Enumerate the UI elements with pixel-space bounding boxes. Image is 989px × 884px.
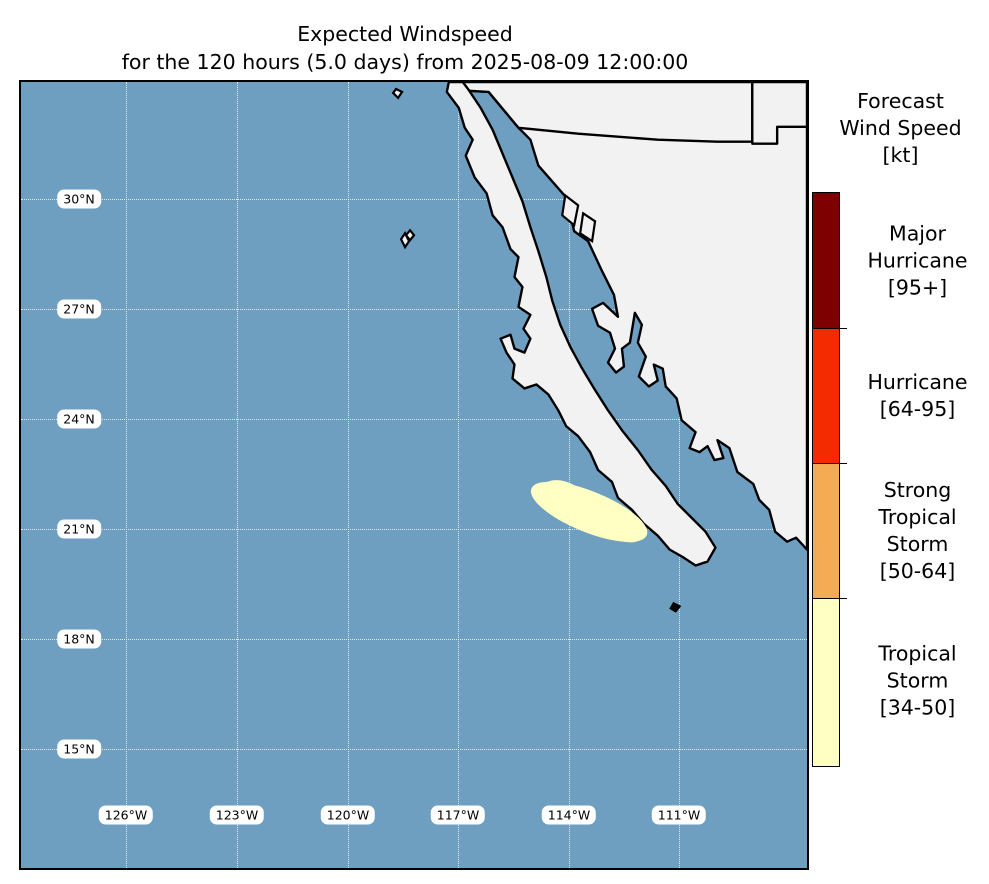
lat-tick-label: 27°N <box>57 300 101 319</box>
coastline-layer <box>21 82 807 868</box>
lon-tick-label: 117°W <box>431 806 485 825</box>
lat-tick-label: 24°N <box>57 410 101 429</box>
border-line <box>455 82 752 142</box>
colorbar-tick <box>840 463 847 464</box>
colorbar-tick <box>840 598 847 599</box>
lon-tick-label: 114°W <box>542 806 596 825</box>
lon-tick-label: 120°W <box>321 806 375 825</box>
colorbar-divider <box>813 328 839 329</box>
colorbar-segment-tropical-storm <box>813 598 839 766</box>
legend-label-major-hurricane: Major Hurricane [95+] <box>846 221 989 302</box>
colorbar[interactable] <box>812 192 840 767</box>
legend-title: Forecast Wind Speed [kt] <box>812 88 989 169</box>
colorbar-divider <box>813 463 839 464</box>
lon-tick-label: 126°W <box>99 806 153 825</box>
lat-tick-label: 30°N <box>57 190 101 209</box>
legend: Forecast Wind Speed [kt] Major Hurricane… <box>812 80 989 870</box>
legend-label-strong-tropical-storm: Strong Tropical Storm [50-64] <box>846 477 989 585</box>
colorbar-divider <box>813 598 839 599</box>
lat-tick-label: 15°N <box>57 740 101 759</box>
legend-label-tropical-storm: Tropical Storm [34-50] <box>846 641 989 722</box>
lat-tick-label: 21°N <box>57 520 101 539</box>
legend-label-hurricane: Hurricane [64-95] <box>846 369 989 423</box>
forecast-map[interactable]: 30°N 27°N 24°N 21°N 18°N 15°N 126°W 123°… <box>19 80 809 870</box>
island-socorro <box>671 603 680 611</box>
colorbar-tick <box>840 328 847 329</box>
colorbar-segment-major-hurricane <box>813 193 839 328</box>
colorbar-segment-strong-tropical-storm <box>813 463 839 598</box>
lon-tick-label: 111°W <box>652 806 706 825</box>
lat-tick-label: 18°N <box>57 630 101 649</box>
lon-tick-label: 123°W <box>210 806 264 825</box>
page-title: Expected Windspeed for the 120 hours (5.… <box>0 20 810 76</box>
island-small-north <box>393 89 402 98</box>
colorbar-segment-hurricane <box>813 328 839 463</box>
